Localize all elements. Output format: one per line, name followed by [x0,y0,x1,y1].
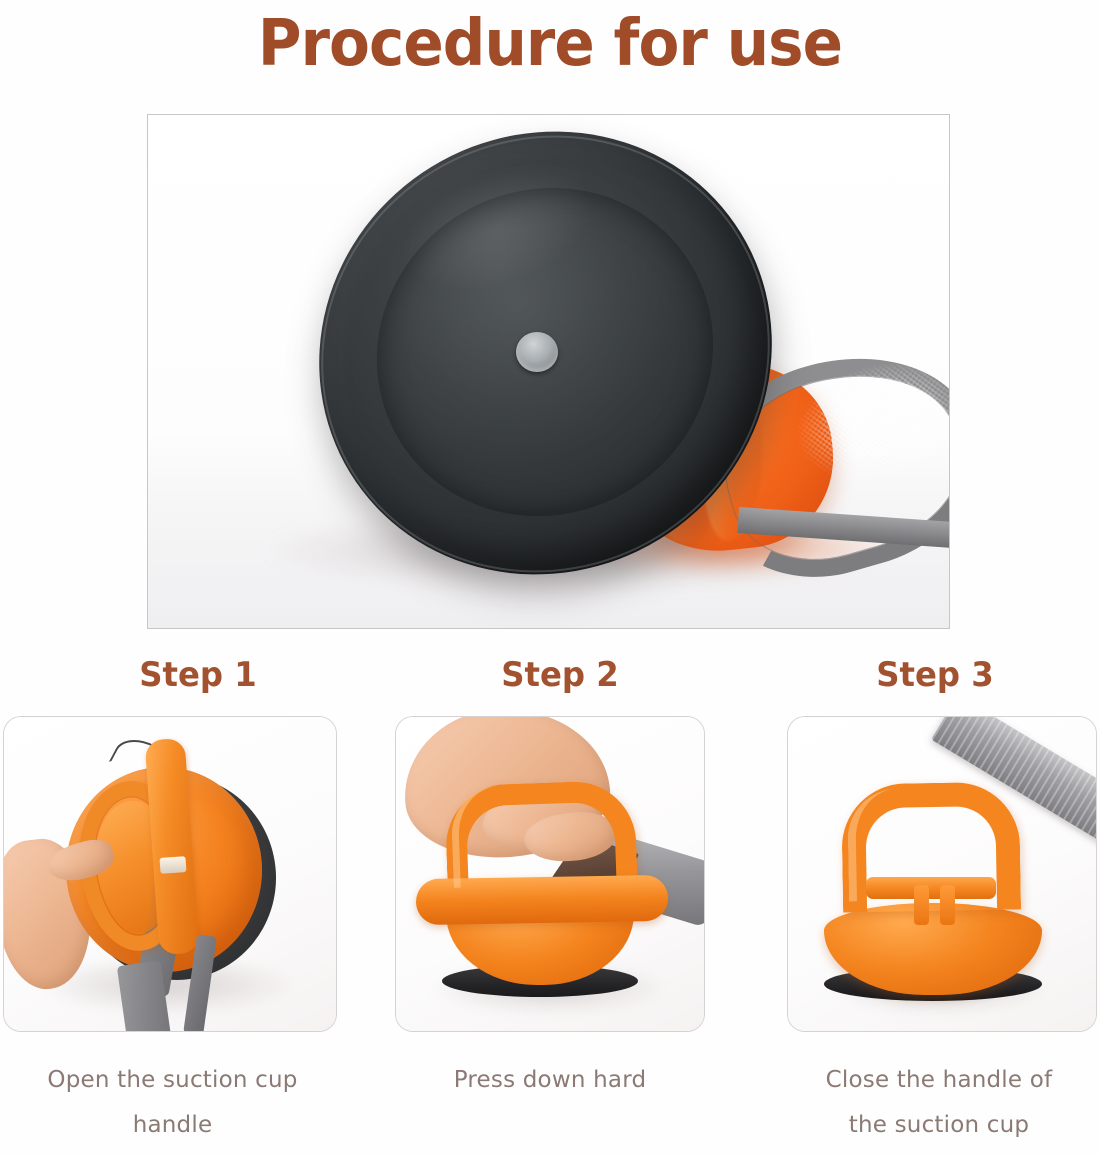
procedure-infographic: Procedure for use Step 1 Step 2 Step 3 [0,0,1100,1155]
step-1-caption: Open the suction cup handle [0,1058,345,1148]
step-label-row: Step 1 Step 2 Step 3 [0,655,1100,710]
step-3-handle-crossbar [866,877,996,899]
step-1-image-card [3,716,337,1032]
step-label-2: Step 2 [422,655,698,695]
step-2-caption: Press down hard [385,1058,715,1103]
step-3-caption: Close the handle of the suction cup [778,1058,1100,1148]
step-3-image-card [787,716,1097,1032]
step-1-caption-line-2: handle [0,1103,345,1148]
hero-suction-disc-center-nub [516,332,558,372]
step-3-latch-prong [940,885,955,925]
step-label-1: Step 1 [65,655,331,695]
step-caption-row: Open the suction cup handle Press down h… [0,1058,1100,1155]
step-2-caption-line-1: Press down hard [385,1058,715,1103]
step-label-3: Step 3 [797,655,1073,695]
step-3-latch-prong [914,885,929,925]
step-image-row [0,716,1100,1032]
step-1-caption-line-1: Open the suction cup [0,1058,345,1103]
step-1-latch-detail [159,856,186,874]
step-2-image-card [395,716,705,1032]
step-3-caption-line-1: Close the handle of [778,1058,1100,1103]
step-3-caption-line-2: the suction cup [778,1103,1100,1148]
hero-product-image [147,114,950,629]
page-title: Procedure for use [39,8,1062,82]
